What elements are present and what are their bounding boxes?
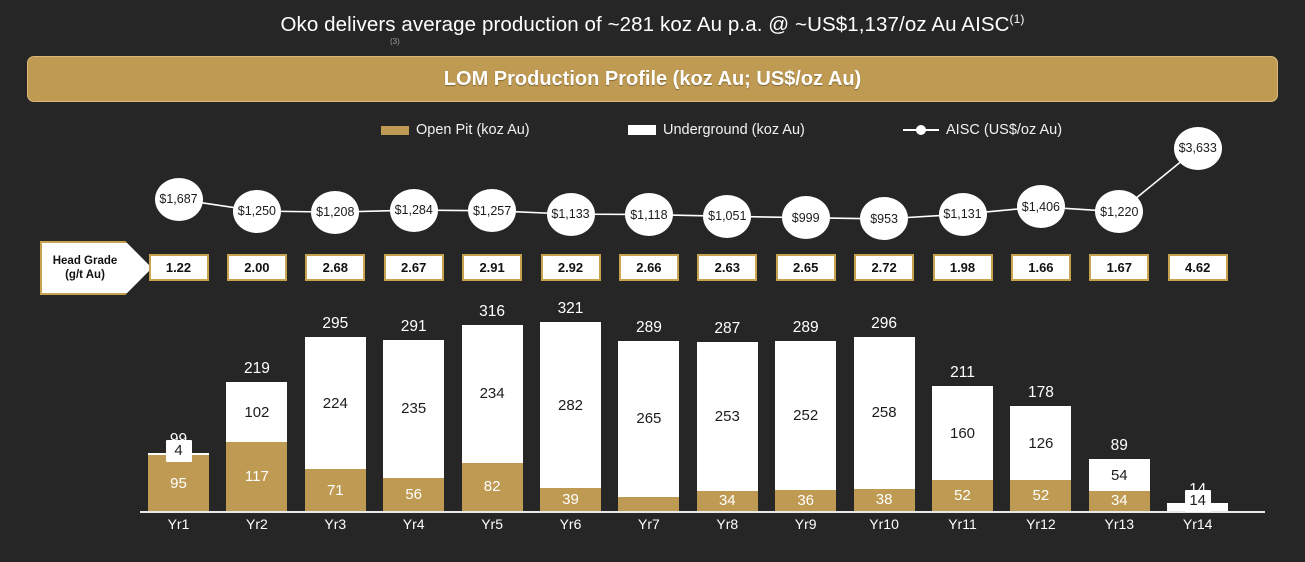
x-axis-label: Yr12 xyxy=(1001,516,1081,532)
bar-segment-open-pit-value: 95 xyxy=(170,475,187,492)
x-axis-label: Yr6 xyxy=(531,516,611,532)
bar-segment-open-pit-value: 117 xyxy=(245,468,269,485)
bar-segment-open-pit[interactable]: 39 xyxy=(540,488,601,511)
bar-segment-underground-value: 160 xyxy=(950,425,975,442)
bar-segment-underground[interactable]: 265 xyxy=(618,341,679,497)
bar-total-value: 178 xyxy=(1010,384,1071,402)
bar-column[interactable]: 12652 xyxy=(1010,406,1071,511)
bar-segment-open-pit[interactable]: 117 xyxy=(226,442,287,511)
bar-total-value: 289 xyxy=(618,319,679,337)
bar-segment-underground[interactable]: 282 xyxy=(540,322,601,488)
bar-column[interactable]: 23482 xyxy=(462,325,523,511)
x-axis-label: Yr2 xyxy=(217,516,297,532)
bar-column[interactable]: 25334 xyxy=(697,342,758,511)
bar-segment-open-pit[interactable]: 71 xyxy=(305,469,366,511)
bar-segment-open-pit-value: 56 xyxy=(405,486,422,503)
bar-column[interactable]: 102117 xyxy=(226,382,287,511)
bar-segment-underground[interactable]: 252 xyxy=(775,341,836,489)
bar-segment-underground-value: 102 xyxy=(244,404,269,421)
bar-segment-underground-value: 235 xyxy=(401,400,426,417)
bar-segment-underground-value: 253 xyxy=(715,408,740,425)
bar-total-value: 316 xyxy=(462,303,523,321)
x-axis-label: Yr5 xyxy=(452,516,532,532)
bar-segment-open-pit[interactable]: 56 xyxy=(383,478,444,511)
bar-segment-open-pit-value: 39 xyxy=(562,491,579,508)
bar-segment-underground[interactable]: 102 xyxy=(226,382,287,442)
bar-total-value: 295 xyxy=(305,315,366,333)
bar-column[interactable]: 16052 xyxy=(932,386,993,511)
bar-plot-area: 9599410211721922471295235562912348231628… xyxy=(0,0,1305,562)
x-axis-label: Yr14 xyxy=(1158,516,1238,532)
bar-segment-open-pit[interactable]: 34 xyxy=(697,491,758,511)
bar-segment-underground-value: 252 xyxy=(793,407,818,424)
bar-segment-underground-value: 126 xyxy=(1028,435,1053,452)
x-axis-label: Yr8 xyxy=(687,516,767,532)
x-axis-label: Yr11 xyxy=(923,516,1003,532)
bar-total-value: 211 xyxy=(932,364,993,382)
x-axis-label: Yr3 xyxy=(295,516,375,532)
bar-column[interactable]: 25236 xyxy=(775,341,836,511)
bar-segment-open-pit-value: 34 xyxy=(719,492,736,509)
slide-root: Oko delivers average production of ~281 … xyxy=(0,0,1305,562)
x-axis-label: Yr1 xyxy=(139,516,219,532)
bar-segment-open-pit[interactable]: 95 xyxy=(148,455,209,511)
bar-segment-underground[interactable]: 160 xyxy=(932,386,993,480)
bar-column[interactable]: 25838 xyxy=(854,337,915,511)
bar-total-value: 291 xyxy=(383,318,444,336)
x-axis-label: Yr7 xyxy=(609,516,689,532)
bar-segment-underground-value-badge: 14 xyxy=(1185,490,1211,512)
x-axis-label: Yr10 xyxy=(844,516,924,532)
bar-segment-underground-value: 282 xyxy=(558,397,583,414)
bar-total-value: 289 xyxy=(775,319,836,337)
bar-segment-underground-value: 54 xyxy=(1111,467,1128,484)
bar-segment-underground[interactable]: 234 xyxy=(462,325,523,463)
bar-segment-underground[interactable]: 126 xyxy=(1010,406,1071,480)
bar-segment-open-pit-value: 38 xyxy=(876,491,893,508)
bar-segment-open-pit[interactable]: 82 xyxy=(462,463,523,511)
bar-column[interactable]: 5434 xyxy=(1089,459,1150,511)
x-axis-label: Yr9 xyxy=(766,516,846,532)
x-axis-label: Yr4 xyxy=(374,516,454,532)
bar-segment-open-pit-value: 71 xyxy=(327,482,344,499)
bar-segment-underground[interactable]: 253 xyxy=(697,342,758,491)
bar-column[interactable]: 28239 xyxy=(540,322,601,511)
bar-segment-underground[interactable]: 258 xyxy=(854,337,915,489)
bar-segment-open-pit-value: 34 xyxy=(1111,492,1128,509)
bar-total-value: 89 xyxy=(1089,437,1150,455)
bar-column[interactable]: 23556 xyxy=(383,340,444,511)
bar-total-value: 219 xyxy=(226,360,287,378)
x-axis-label: Yr13 xyxy=(1079,516,1159,532)
bar-segment-underground-value: 234 xyxy=(480,385,505,402)
bar-segment-underground[interactable]: 224 xyxy=(305,337,366,469)
bar-segment-underground[interactable]: 54 xyxy=(1089,459,1150,491)
bar-segment-underground-value-badge: 4 xyxy=(166,440,192,462)
bar-segment-open-pit[interactable]: 36 xyxy=(775,490,836,511)
bar-total-value: 296 xyxy=(854,315,915,333)
bar-segment-open-pit-value: 82 xyxy=(484,478,501,495)
bar-segment-underground-value: 224 xyxy=(323,395,348,412)
bar-segment-open-pit[interactable]: 34 xyxy=(1089,491,1150,511)
bar-segment-open-pit[interactable]: 38 xyxy=(854,489,915,511)
bar-segment-underground-value: 265 xyxy=(636,410,661,427)
bar-segment-open-pit-value: 36 xyxy=(797,492,814,509)
bar-segment-open-pit[interactable]: 52 xyxy=(932,480,993,511)
bar-segment-open-pit[interactable]: 52 xyxy=(1010,480,1071,511)
bar-segment-open-pit[interactable] xyxy=(618,497,679,511)
bar-segment-underground-value: 258 xyxy=(872,404,897,421)
bar-segment-open-pit-value: 52 xyxy=(1033,487,1050,504)
bar-column[interactable]: 265 xyxy=(618,341,679,511)
bar-total-value: 287 xyxy=(697,320,758,338)
bar-total-value: 321 xyxy=(540,300,601,318)
bar-column[interactable]: 22471 xyxy=(305,337,366,511)
x-axis-line xyxy=(140,511,1265,513)
bar-segment-open-pit-value: 52 xyxy=(954,487,971,504)
bar-segment-underground[interactable]: 235 xyxy=(383,340,444,478)
